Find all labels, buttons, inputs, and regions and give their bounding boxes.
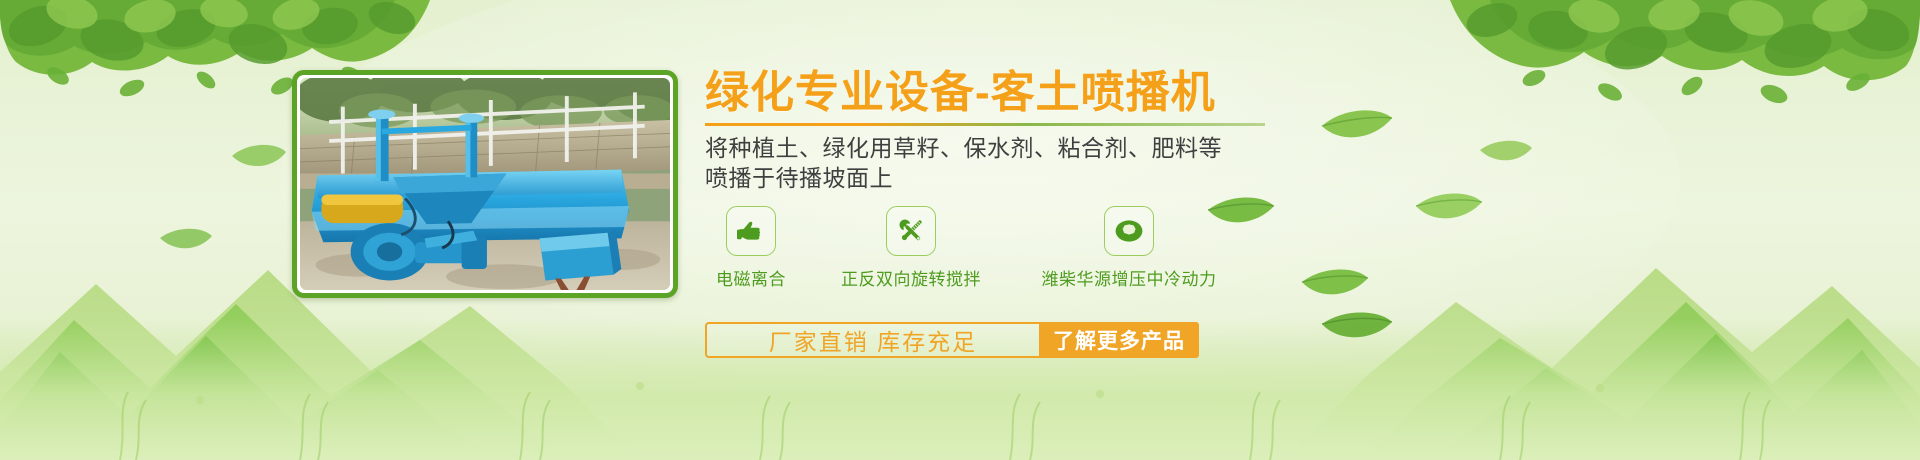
promo-banner: 绿化专业设备-客土喷播机 将种植土、绿化用草籽、保水剂、粘合剂、肥料等 喷播于待… (0, 0, 1920, 460)
title-divider (705, 123, 1265, 126)
feature-label: 正反双向旋转搅拌 (813, 265, 1009, 290)
tools-wrench-screwdriver-icon (886, 206, 936, 256)
thumbs-up-icon (726, 206, 776, 256)
banner-content: 绿化专业设备-客土喷播机 将种植土、绿化用草籽、保水剂、粘合剂、肥料等 喷播于待… (705, 66, 1865, 396)
product-photo-frame[interactable] (292, 70, 678, 298)
feature-item-electromagnetic-clutch[interactable]: 电磁离合 (705, 206, 797, 290)
subtitle-line-2: 喷播于待播坡面上 (705, 163, 1865, 193)
page-title: 绿化专业设备-客土喷播机 (705, 66, 1865, 120)
engine-gear-ring-icon (1104, 206, 1154, 256)
product-photo (300, 78, 670, 290)
feature-label: 电磁离合 (705, 265, 797, 290)
cta-bar: 厂家直销 库存充足 了解更多产品 (705, 322, 1199, 358)
cta-slogan: 厂家直销 库存充足 (707, 324, 1039, 356)
learn-more-button[interactable]: 了解更多产品 (1039, 322, 1199, 358)
subtitle-block: 将种植土、绿化用草籽、保水剂、粘合剂、肥料等 喷播于待播坡面上 (705, 133, 1865, 193)
subtitle-line-1: 将种植土、绿化用草籽、保水剂、粘合剂、肥料等 (705, 133, 1865, 163)
feature-list: 电磁离合 (705, 206, 1865, 290)
feature-item-weichai-power[interactable]: 潍柴华源增压中冷动力 (1025, 206, 1233, 290)
feature-label: 潍柴华源增压中冷动力 (1025, 265, 1233, 290)
feature-item-bidirectional-stirring[interactable]: 正反双向旋转搅拌 (813, 206, 1009, 290)
